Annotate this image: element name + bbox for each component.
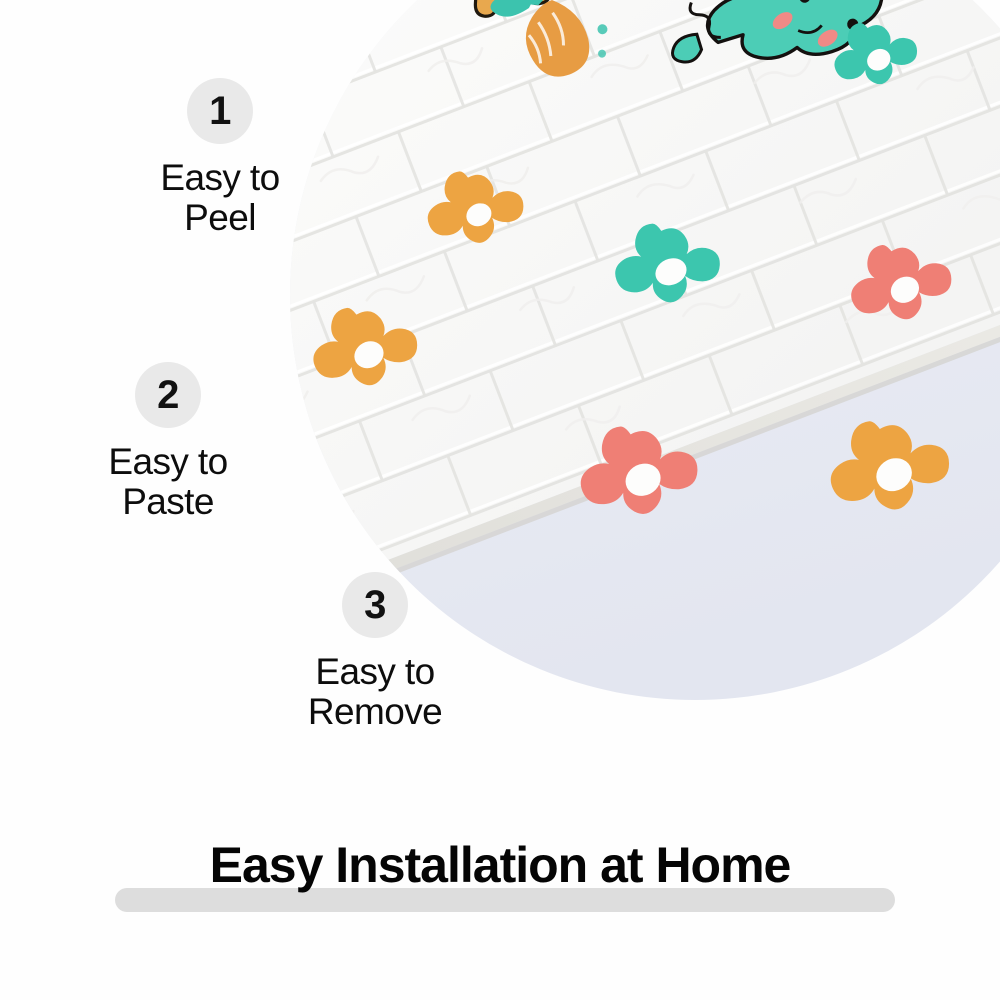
step-1-number-badge: 1 bbox=[187, 78, 253, 144]
step-2: 2 Easy to Paste bbox=[58, 362, 278, 522]
step-2-label: Easy to Paste bbox=[58, 442, 278, 522]
headline-area: Easy Installation at Home bbox=[0, 836, 1000, 946]
step-3-number-badge: 3 bbox=[342, 572, 408, 638]
page-title: Easy Installation at Home bbox=[0, 836, 1000, 894]
infographic-page: 1 Easy to Peel 2 Easy to Paste 3 Easy to… bbox=[0, 0, 1000, 1000]
step-1-label: Easy to Peel bbox=[110, 158, 330, 238]
step-3: 3 Easy to Remove bbox=[265, 572, 485, 732]
step-3-label: Easy to Remove bbox=[265, 652, 485, 732]
step-1: 1 Easy to Peel bbox=[110, 78, 330, 238]
step-2-number-badge: 2 bbox=[135, 362, 201, 428]
